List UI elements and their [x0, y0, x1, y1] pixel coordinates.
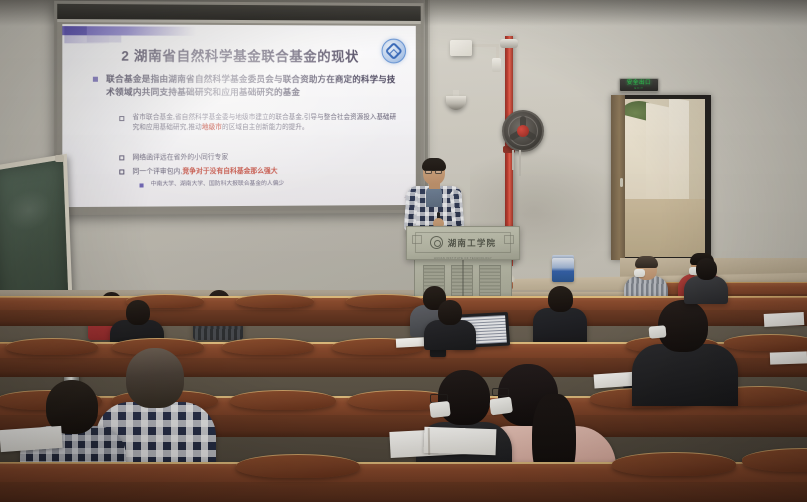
fan-pull-cord[interactable]	[519, 150, 521, 176]
document-papers[interactable]	[770, 351, 807, 364]
presenter-inner-shirt	[426, 187, 442, 207]
nsfc-logo-icon	[382, 39, 406, 64]
slide-bullet-3: 网络函评远在省外的小同行专家	[119, 153, 228, 163]
audience-head	[658, 300, 708, 352]
slide-bullet-4-highlight: 竞争对于没有自科基金那么强大	[182, 168, 277, 175]
wall-fan-icon	[502, 110, 544, 152]
seat[interactable]	[236, 454, 360, 478]
slide-bullet-2-text-b: 的区域自主创新能力的提升。	[222, 124, 309, 131]
chalkboard-clip	[55, 155, 64, 162]
presenter-glasses-bridge	[425, 170, 443, 174]
slide-header-square-1	[64, 26, 86, 35]
audience-hair	[635, 256, 658, 268]
audience-head	[126, 300, 150, 325]
projection-screen: 2 湖南省自然科学基金联合基金的现状 联合基金是指由湖南省自然科学基金委员会与联…	[54, 1, 423, 215]
document-papers[interactable]	[0, 426, 63, 452]
presentation-slide: 2 湖南省自然科学基金联合基金的现状 联合基金是指由湖南省自然科学基金委员会与联…	[62, 24, 415, 207]
podium-nameplate: 湖南工学院	[415, 232, 511, 253]
podium-university-name: 湖南工学院	[448, 237, 497, 249]
projector-unit	[450, 40, 472, 56]
seat[interactable]	[222, 338, 314, 355]
audience-head	[126, 348, 184, 408]
bullet-hollow-square-icon	[119, 155, 124, 160]
slide-header-square-3	[87, 35, 122, 42]
audience-head	[548, 286, 573, 312]
face-mask	[429, 401, 450, 418]
open-document-right-page[interactable]	[424, 427, 497, 455]
university-seal-icon	[430, 236, 443, 249]
bullet-hollow-square-icon	[119, 116, 124, 121]
slide-bullet-2-text: 省市联合基金,省自然科学基金委与地级市建立的联合基金,引导与整合社会资源投入基础…	[132, 113, 400, 133]
lecture-hall-photo: 2 湖南省自然科学基金联合基金的现状 联合基金是指由湖南省自然科学基金委员会与联…	[0, 0, 807, 502]
wall-sensor	[492, 58, 501, 72]
bullet-hollow-square-icon	[119, 169, 124, 174]
desk-panel	[0, 482, 807, 502]
audience-head	[438, 300, 462, 325]
screen-housing-highlight	[57, 19, 420, 24]
presenter-arm-right	[449, 190, 464, 231]
bullet-square-icon	[93, 77, 98, 82]
document-papers[interactable]	[764, 312, 805, 327]
audience-head	[696, 258, 717, 280]
audience-member-right-edge	[684, 258, 728, 302]
fan-pull-cord[interactable]	[512, 150, 514, 170]
slide-bullet-2: 省市联合基金,省自然科学基金委与地级市建立的联合基金,引导与整合社会资源投入基础…	[119, 113, 400, 133]
seat[interactable]	[236, 294, 314, 308]
audience-member-left-mid	[424, 300, 476, 348]
face-mask	[649, 325, 667, 338]
chalk-smudge	[5, 186, 52, 233]
slide-bullet-4: 同一个评审包内,竞争对于没有自科基金那么强大	[119, 167, 277, 178]
slide-bullet-5: 中南大学、湖南大学、国防科大报联合基金的人偏少	[140, 180, 285, 190]
water-bottle-pack	[552, 258, 574, 282]
presenter	[403, 160, 465, 232]
seat[interactable]	[612, 452, 736, 476]
document-papers[interactable]	[396, 337, 424, 347]
audience-member-black-shirt	[632, 300, 738, 404]
podium-university-name-en: HUNAN INSTITUTE OF TECHNOLOGY	[407, 257, 519, 260]
exit-sign-label-en: EXIT	[634, 87, 643, 90]
nsfc-logo-mark	[385, 42, 403, 60]
slide-bullet-4-text: 同一个评审包内,竞争对于没有自科基金那么强大	[132, 167, 277, 178]
seat[interactable]	[230, 390, 336, 410]
podium: 湖南工学院 HUNAN INSTITUTE OF TECHNOLOGY	[406, 226, 520, 260]
fan-hub	[517, 125, 529, 137]
audience-torso	[632, 344, 738, 406]
door-handle[interactable]	[620, 178, 623, 187]
audience-torso	[684, 276, 728, 304]
slide-bullet-2-highlight: 地级市	[202, 124, 222, 131]
slide-bullet-3-text: 网络函评远在省外的小同行专家	[132, 153, 228, 163]
slide-bullet-5-text: 中南大学、湖南大学、国防科大报联合基金的人偏少	[151, 180, 285, 190]
bullet-sub-square-icon	[140, 183, 144, 187]
door-panel[interactable]	[611, 95, 625, 260]
slide-title: 2 湖南省自然科学基金联合基金的现状	[62, 44, 415, 65]
audience-member-a3	[533, 286, 587, 342]
emergency-exit-sign: 安全出口 EXIT	[619, 78, 659, 92]
face-mask	[634, 269, 645, 277]
slide-bullet-1-text: 联合基金是指由湖南省自然科学基金委员会与联合资助方在商定的科学与技术领域内共同支…	[106, 73, 398, 99]
audience-torso	[533, 308, 587, 344]
corridor-wall	[669, 99, 689, 209]
slide-bullet-4-text-a: 同一个评审包内,	[132, 168, 182, 175]
corridor-floor	[617, 199, 705, 257]
slide-bullet-1: 联合基金是指由湖南省自然科学基金委员会与联合资助方在商定的科学与技术领域内共同支…	[93, 73, 398, 99]
doorway-opening	[617, 99, 705, 257]
standpipe-cap	[500, 39, 518, 48]
seat[interactable]	[6, 338, 98, 355]
